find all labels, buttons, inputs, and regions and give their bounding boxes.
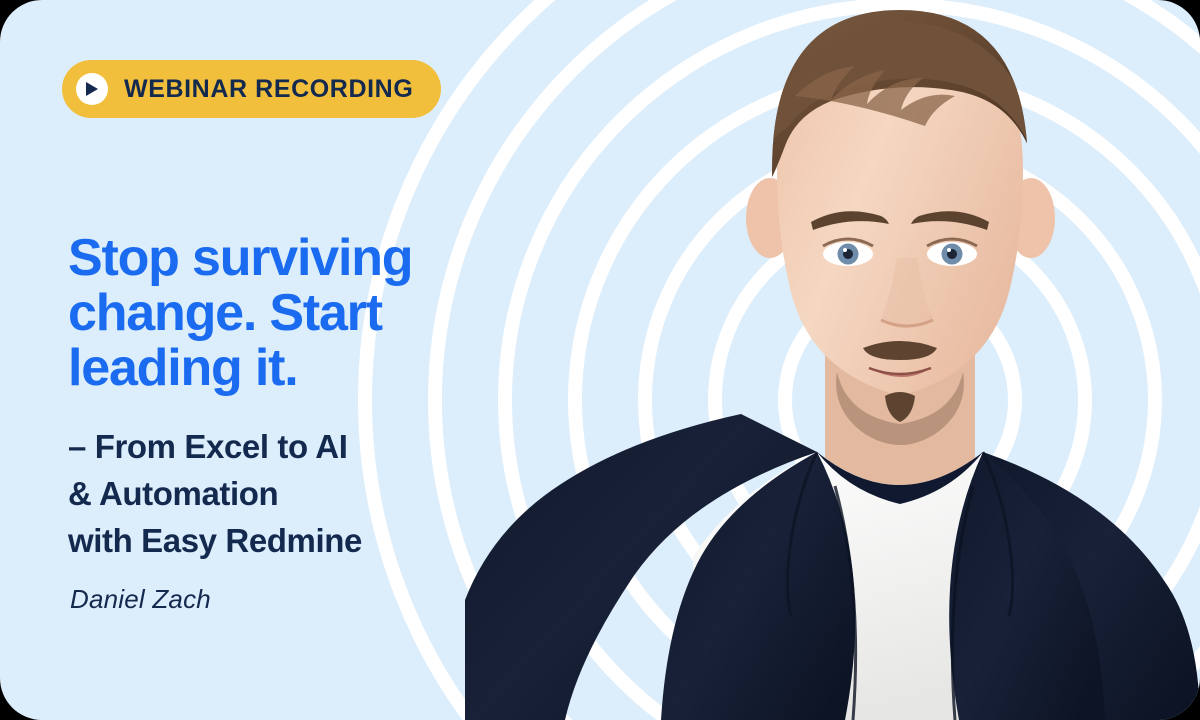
headline-line-3: leading it. bbox=[68, 341, 498, 396]
webinar-recording-badge[interactable]: WEBINAR RECORDING bbox=[62, 60, 441, 118]
play-icon bbox=[76, 73, 108, 105]
headline-line-1: Stop surviving bbox=[68, 231, 498, 286]
speaker-name: Daniel Zach bbox=[70, 584, 211, 615]
badge-label: WEBINAR RECORDING bbox=[124, 77, 413, 102]
subtitle-line-3: with Easy Redmine bbox=[68, 517, 498, 564]
headline-line-2: change. Start bbox=[68, 286, 498, 341]
text-content: WEBINAR RECORDING Stop surviving change.… bbox=[0, 0, 520, 720]
speaker-photo bbox=[465, 0, 1200, 720]
page-subtitle: – From Excel to AI & Automation with Eas… bbox=[68, 423, 498, 564]
subtitle-line-2: & Automation bbox=[68, 470, 498, 517]
subtitle-line-1: – From Excel to AI bbox=[68, 423, 498, 470]
page-title: Stop surviving change. Start leading it. bbox=[68, 231, 498, 396]
webinar-recording-banner: WEBINAR RECORDING Stop surviving change.… bbox=[0, 0, 1200, 720]
